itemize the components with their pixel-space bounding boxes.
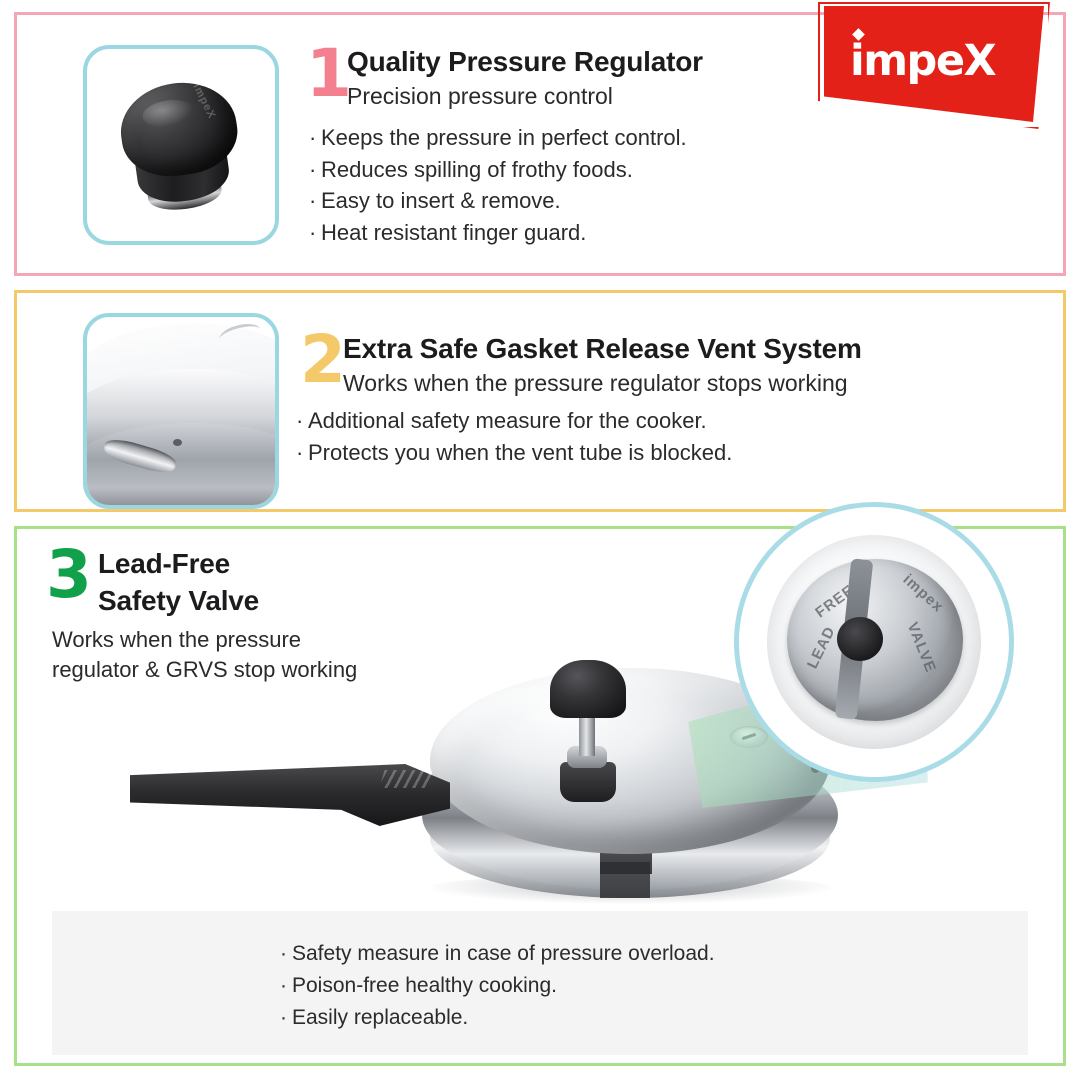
section-subtitle-1: Precision pressure control <box>347 83 613 110</box>
list-item: Protects you when the vent tube is block… <box>296 437 732 469</box>
section-title-3-line2: Safety Valve <box>98 585 259 617</box>
pressure-regulator-image-frame: impeX <box>83 45 279 245</box>
list-item: Easily replaceable. <box>280 1002 715 1034</box>
handle-grip-lines <box>379 770 432 788</box>
list-item: Safety measure in case of pressure overl… <box>280 938 715 970</box>
section-title-2: Extra Safe Gasket Release Vent System <box>343 333 862 365</box>
section-number-3: 3 <box>46 545 92 606</box>
cooker-reflection-mark-lower <box>600 862 650 898</box>
pressure-regulator-knob-image: impeX <box>106 68 256 221</box>
impex-logo: impeX <box>824 6 1044 122</box>
gasket-release-vent-image <box>87 317 275 505</box>
valve-center-plug <box>837 617 883 661</box>
knob-highlight <box>141 97 196 130</box>
safety-valve-magnifier: LEAD FREE impex VALVE <box>734 502 1014 782</box>
regulator-knob <box>550 660 626 718</box>
section-number-1: 1 <box>306 44 352 105</box>
list-item: Easy to insert & remove. <box>309 185 687 217</box>
section-subtitle-2: Works when the pressure regulator stops … <box>343 370 848 397</box>
section-number-2: 2 <box>300 330 346 391</box>
list-item: Additional safety measure for the cooker… <box>296 405 732 437</box>
feature-bullets-1: Keeps the pressure in perfect control. R… <box>309 122 687 249</box>
list-item: Poison-free healthy cooking. <box>280 970 715 1002</box>
feature-bullets-2: Additional safety measure for the cooker… <box>296 405 732 468</box>
section-title-3-line1: Lead-Free <box>98 548 230 580</box>
section-title-1: Quality Pressure Regulator <box>347 46 703 78</box>
gasket-vent-image-frame <box>83 313 279 509</box>
logo-wordmark: impeX <box>850 36 995 86</box>
lid-lower-band <box>83 423 279 509</box>
feature-bullets-3: Safety measure in case of pressure overl… <box>280 938 715 1034</box>
vent-hole <box>173 439 182 446</box>
list-item: Heat resistant finger guard. <box>309 217 687 249</box>
regulator-skirt <box>560 762 616 802</box>
feature-panel-2 <box>14 290 1066 512</box>
list-item: Reduces spilling of frothy foods. <box>309 154 687 186</box>
list-item: Keeps the pressure in perfect control. <box>309 122 687 154</box>
